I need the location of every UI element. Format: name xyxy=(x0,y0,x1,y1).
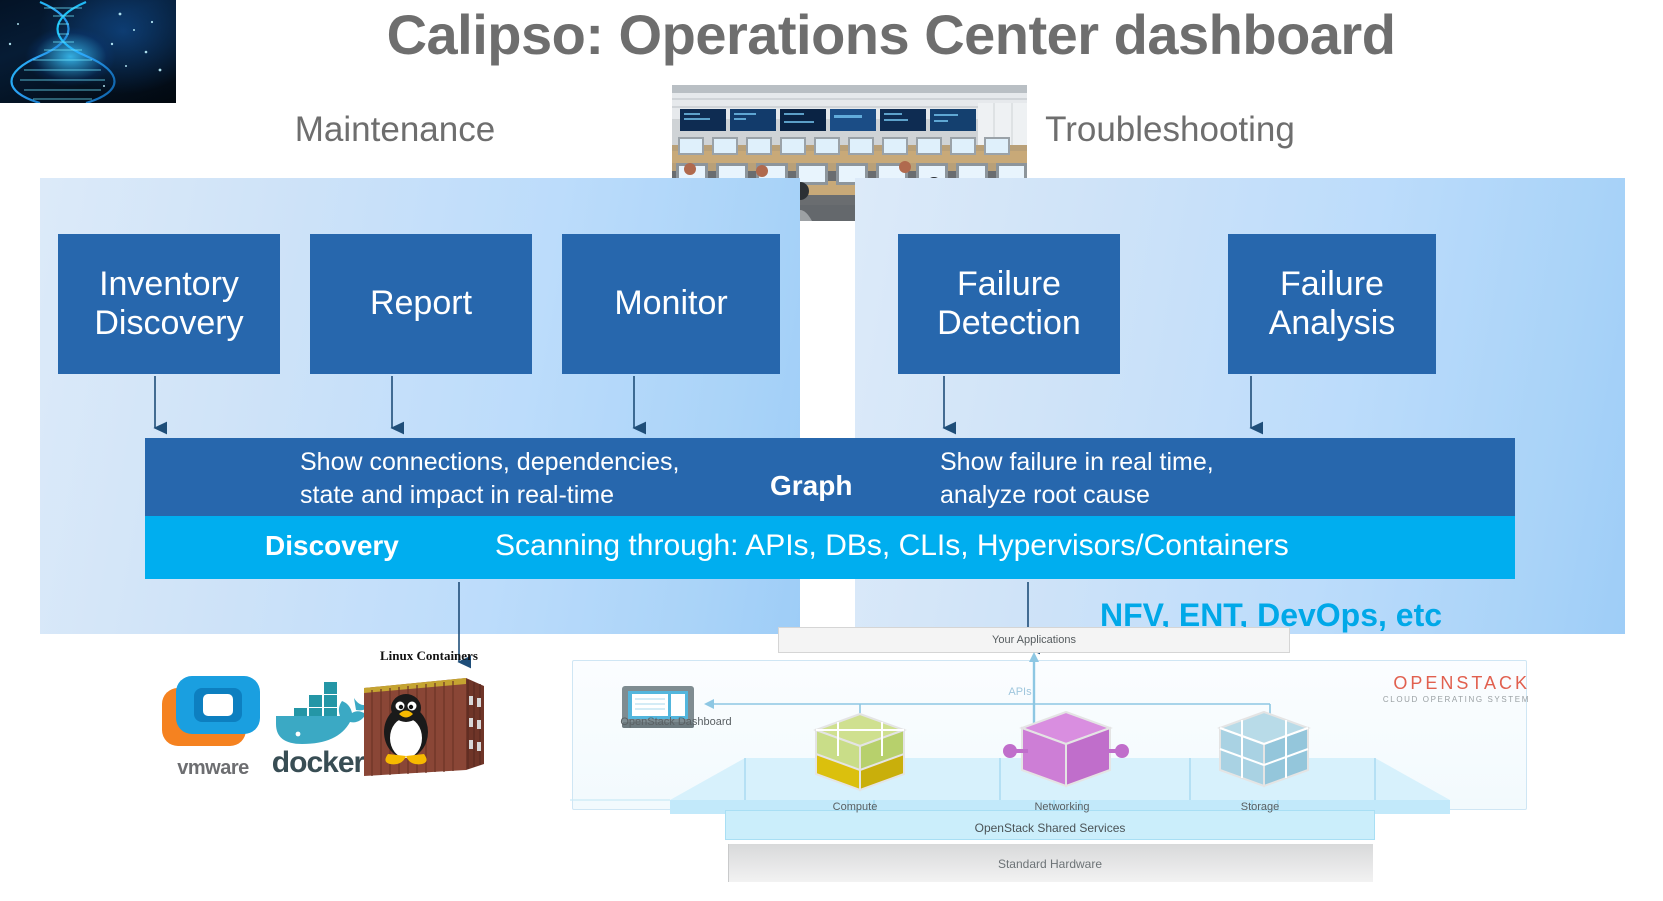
openstack-architecture-figure: Your Applications xyxy=(570,618,1530,901)
box-label: Inventory Discovery xyxy=(94,265,243,343)
box-label: Failure Detection xyxy=(937,265,1081,343)
linux-containers-label: Linux Containers xyxy=(380,648,478,664)
box-failure-analysis[interactable]: Failure Analysis xyxy=(1228,234,1436,374)
networking-label: Networking xyxy=(1002,801,1122,813)
compute-label: Compute xyxy=(795,801,915,813)
apis-label: APIs xyxy=(990,686,1050,698)
dna-helix-logo xyxy=(0,0,176,103)
openstack-logo: OPENSTACK CLOUD OPERATING SYSTEM xyxy=(1340,673,1530,704)
graph-right-description: Show failure in real time, analyze root … xyxy=(940,446,1214,511)
column-heading-troubleshooting: Troubleshooting xyxy=(970,110,1370,150)
discovery-layer-bar: Discovery Scanning through: APIs, DBs, C… xyxy=(145,516,1515,579)
box-label: Report xyxy=(370,284,472,323)
openstack-dashboard-label: OpenStack Dashboard xyxy=(586,716,766,728)
discovery-label: Discovery xyxy=(265,530,399,562)
page-title: Calipso: Operations Center dashboard xyxy=(176,4,1606,66)
box-label: Failure Analysis xyxy=(1269,265,1396,343)
shipping-container-image xyxy=(356,666,489,782)
vmware-wordmark: vmware xyxy=(160,757,266,780)
standard-hardware-label: Standard Hardware xyxy=(730,857,1370,871)
graph-left-description: Show connections, dependencies, state an… xyxy=(300,446,679,511)
graph-label: Graph xyxy=(770,470,852,502)
box-failure-detection[interactable]: Failure Detection xyxy=(898,234,1120,374)
box-label: Monitor xyxy=(614,284,727,323)
graph-layer-bar: Show connections, dependencies, state an… xyxy=(145,438,1515,516)
openstack-logo-subtitle: CLOUD OPERATING SYSTEM xyxy=(1340,695,1530,704)
slide-canvas: Calipso: Operations Center dashboard Mai… xyxy=(0,0,1663,901)
discovery-description: Scanning through: APIs, DBs, CLIs, Hyper… xyxy=(495,526,1289,565)
box-inventory-discovery[interactable]: Inventory Discovery xyxy=(58,234,280,374)
storage-label: Storage xyxy=(1200,801,1320,813)
openstack-logo-name: OPENSTACK xyxy=(1340,673,1530,694)
column-heading-maintenance: Maintenance xyxy=(195,110,595,150)
box-report[interactable]: Report xyxy=(310,234,532,374)
box-monitor[interactable]: Monitor xyxy=(562,234,780,374)
openstack-shared-services-label: OpenStack Shared Services xyxy=(730,821,1370,835)
vmware-logo: vmware xyxy=(160,672,266,782)
